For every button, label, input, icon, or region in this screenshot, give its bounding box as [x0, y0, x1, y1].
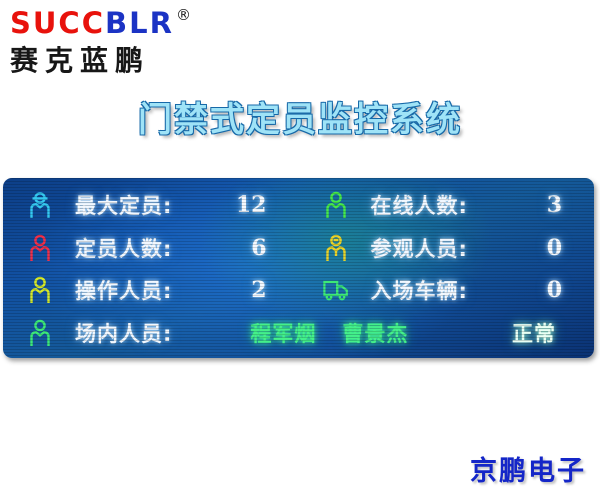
company-logo: SUCCBLR ® 赛克蓝鹏	[8, 6, 218, 76]
led-value-max-capacity: 12	[236, 192, 289, 218]
led-row-vehicle-count: 入场车辆: 0	[299, 269, 595, 312]
logo-latin-part-a: SUCC	[10, 6, 105, 40]
led-value-visitor-count: 0	[547, 235, 584, 261]
led-value-online-count: 3	[547, 192, 584, 218]
led-row-registered-count: 定员人数: 6	[3, 227, 299, 270]
logo-latin-text: SUCCBLR	[10, 8, 174, 38]
led-row-operator-count: 操作人员: 2	[3, 269, 299, 312]
led-value-registered-count: 6	[251, 235, 288, 261]
led-label-onsite-personnel: 场内人员:	[75, 318, 172, 348]
logo-chinese-text: 赛克蓝鹏	[10, 39, 150, 79]
logo-latin-part-b: BLR	[105, 6, 174, 40]
led-row-onsite-personnel: 场内人员: 程军烟 曹景杰 正常	[3, 312, 594, 355]
person-visitor-icon	[323, 233, 349, 263]
person-icon	[27, 275, 53, 305]
led-label-online-count: 在线人数:	[371, 190, 468, 220]
person-hardhat-icon	[27, 190, 53, 220]
registered-trademark-icon: ®	[176, 8, 191, 23]
truck-icon	[323, 275, 349, 305]
person-icon	[323, 190, 349, 220]
person-icon	[27, 318, 53, 348]
led-value-vehicle-count: 0	[547, 277, 584, 303]
led-value-operator-count: 2	[251, 277, 288, 303]
page-title: 门禁式定员监控系统	[0, 92, 600, 141]
led-row-max-capacity: 最大定员: 12	[3, 184, 299, 227]
led-label-registered-count: 定员人数:	[75, 233, 172, 263]
led-display-grid: 最大定员: 12 在线人数: 3	[3, 178, 594, 358]
led-row-online-count: 在线人数: 3	[299, 184, 595, 227]
person-icon	[27, 233, 53, 263]
led-display-panel: 最大定员: 12 在线人数: 3	[3, 178, 594, 358]
led-label-vehicle-count: 入场车辆:	[371, 275, 468, 305]
led-label-max-capacity: 最大定员:	[75, 190, 172, 220]
led-onsite-name-list: 程军烟 曹景杰	[250, 318, 408, 348]
footer-brand: 京鹏电子	[470, 449, 586, 488]
list-item: 程军烟	[250, 318, 316, 348]
led-label-visitor-count: 参观人员:	[371, 233, 468, 263]
status-badge: 正常	[512, 318, 576, 348]
led-row-visitor-count: 参观人员: 0	[299, 227, 595, 270]
list-item: 曹景杰	[342, 318, 408, 348]
led-label-operator-count: 操作人员:	[75, 275, 172, 305]
